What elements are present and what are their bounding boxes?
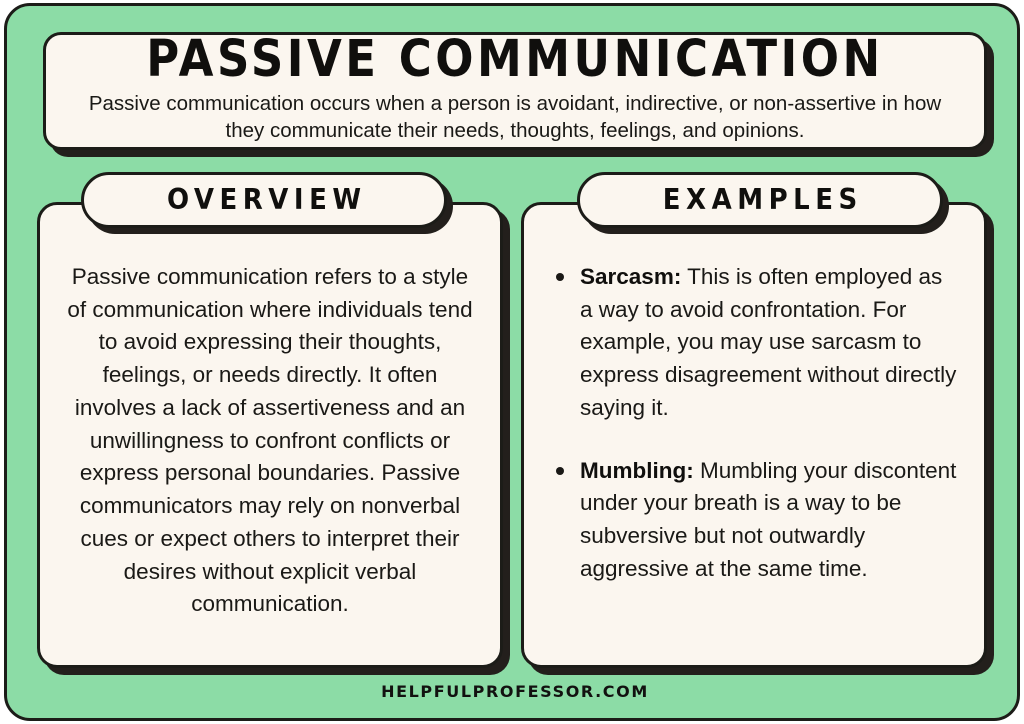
overview-pill-header: OVERVIEW	[81, 172, 447, 228]
overview-body: Passive communication refers to a style …	[66, 261, 474, 645]
example-term: Mumbling:	[580, 458, 694, 483]
bullet-icon	[556, 273, 564, 281]
overview-card: Passive communication refers to a style …	[37, 202, 503, 668]
page-title: PASSIVE COMMUNICATION	[146, 33, 883, 84]
header-subtitle: Passive communication occurs when a pers…	[68, 90, 962, 144]
overview-pill-label: OVERVIEW	[161, 184, 366, 217]
footer-site-credit: HELPFULPROFESSOR.COM	[7, 682, 1020, 701]
example-term: Sarcasm:	[580, 264, 681, 289]
header-card: PASSIVE COMMUNICATION Passive communicat…	[43, 32, 987, 150]
bullet-icon	[556, 467, 564, 475]
examples-body: Sarcasm: This is often employed as a way…	[550, 261, 958, 645]
examples-card: Sarcasm: This is often employed as a way…	[521, 202, 987, 668]
infographic-poster: PASSIVE COMMUNICATION Passive communicat…	[4, 3, 1020, 721]
examples-pill-label: EXAMPLES	[657, 184, 862, 217]
examples-pill-header: EXAMPLES	[577, 172, 943, 228]
list-item: Mumbling: Mumbling your discontent under…	[550, 455, 958, 586]
overview-paragraph: Passive communication refers to a style …	[66, 261, 474, 621]
list-item: Sarcasm: This is often employed as a way…	[550, 261, 958, 425]
examples-list: Sarcasm: This is often employed as a way…	[550, 261, 958, 586]
